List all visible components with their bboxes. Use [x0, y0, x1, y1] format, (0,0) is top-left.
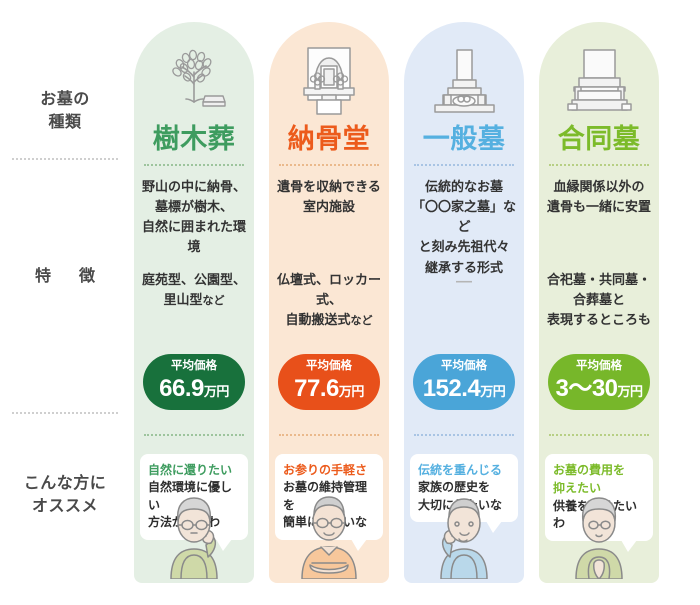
column-subtypes-godobo: 合祀墓・共同墓・合葬墓と表現するところも	[539, 270, 659, 330]
column-title-jumokuso: 樹木葬	[134, 126, 254, 153]
column-nokotsudo[interactable]: 納骨堂 遺骨を収納できる室内施設 仏壇式、ロッカー式、自動搬送式など 平均価格 …	[269, 22, 389, 583]
column-description-jumokuso: 野山の中に納骨、墓標が樹木、自然に囲まれた環境	[136, 177, 252, 258]
column-divider-top	[279, 164, 379, 166]
column-divider-bottom	[144, 434, 244, 436]
price-value: 152.4万円	[413, 374, 515, 404]
elderly-woman-praying-icon	[539, 479, 659, 579]
subtypes-main: —	[456, 273, 472, 290]
subtypes-suffix: など	[203, 295, 225, 307]
price-unit: 万円	[618, 384, 643, 399]
column-subtypes-nokotsudo: 仏壇式、ロッカー式、自動搬送式など	[269, 270, 389, 330]
column-title-godobo: 合同墓	[539, 126, 659, 153]
man-blue-icon	[404, 479, 524, 579]
price-pill-ippanbo: 平均価格 152.4万円	[413, 354, 515, 410]
subtypes-main: 庭苑型、公園型、里山型	[142, 272, 246, 307]
price-number: 3〜30	[555, 375, 617, 402]
column-divider-bottom	[414, 434, 514, 436]
price-number: 77.6	[294, 375, 339, 402]
grave-types-comparison-chart: お墓の種類 特 徴 こんな方にオススメ	[0, 0, 700, 605]
column-description-nokotsudo: 遺骨を収納できる室内施設	[271, 177, 387, 217]
price-unit: 万円	[480, 384, 505, 399]
column-title-nokotsudo: 納骨堂	[269, 126, 389, 153]
row-label-recommend: こんな方にオススメ	[0, 472, 130, 518]
price-pill-godobo: 平均価格 3〜30万円	[548, 354, 650, 410]
monument-icon	[539, 40, 659, 118]
column-divider-bottom	[549, 434, 649, 436]
column-ippanbo[interactable]: 一般墓 伝統的なお墓「〇〇家之墓」などと刻み先祖代々継承する形式 — 平均価格 …	[404, 22, 524, 583]
column-godobo[interactable]: 合同墓 血縁関係以外の遺骨も一緒に安置 合祀墓・共同墓・合葬墓と表現するところも…	[539, 22, 659, 583]
column-description-godobo: 血縁関係以外の遺骨も一緒に安置	[541, 177, 657, 217]
column-subtypes-ippanbo: —	[404, 270, 524, 295]
price-label: 平均価格	[413, 360, 515, 374]
price-pill-jumokuso: 平均価格 66.9万円	[143, 354, 245, 410]
column-description-ippanbo: 伝統的なお墓「〇〇家之墓」などと刻み先祖代々継承する形式	[406, 177, 522, 278]
price-value: 77.6万円	[278, 374, 380, 404]
column-divider-top	[414, 164, 514, 166]
subtypes-suffix: など	[351, 315, 373, 327]
row-label-column: お墓の種類 特 徴 こんな方にオススメ	[0, 0, 130, 605]
altar-icon	[269, 40, 389, 118]
column-divider-top	[549, 164, 649, 166]
man-orange-icon	[269, 479, 389, 579]
elderly-woman-green-icon	[134, 479, 254, 579]
price-number: 66.9	[159, 375, 204, 402]
tombstone-icon	[404, 40, 524, 118]
row-divider-top	[12, 158, 118, 160]
price-number: 152.4	[423, 375, 481, 402]
price-unit: 万円	[339, 384, 364, 399]
column-jumokuso[interactable]: 樹木葬 野山の中に納骨、墓標が樹木、自然に囲まれた環境 庭苑型、公園型、里山型な…	[134, 22, 254, 583]
price-label: 平均価格	[278, 360, 380, 374]
bubble-highlight: お参りの手軽さ	[283, 463, 367, 477]
price-value: 66.9万円	[143, 374, 245, 404]
column-title-ippanbo: 一般墓	[404, 126, 524, 153]
row-label-features: 特 徴	[0, 265, 130, 288]
bubble-highlight: 伝統を重んじる	[418, 463, 502, 477]
price-value: 3〜30万円	[548, 374, 650, 404]
row-label-types: お墓の種類	[0, 88, 130, 134]
tree-grave-icon	[134, 40, 254, 118]
price-label: 平均価格	[143, 360, 245, 374]
row-divider-bottom	[12, 412, 118, 414]
price-unit: 万円	[204, 384, 229, 399]
bubble-highlight: 自然に還りたい	[148, 463, 232, 477]
price-label: 平均価格	[548, 360, 650, 374]
price-pill-nokotsudo: 平均価格 77.6万円	[278, 354, 380, 410]
column-divider-bottom	[279, 434, 379, 436]
column-divider-top	[144, 164, 244, 166]
column-subtypes-jumokuso: 庭苑型、公園型、里山型など	[134, 270, 254, 310]
subtypes-main: 合祀墓・共同墓・合葬墓と表現するところも	[547, 272, 651, 327]
